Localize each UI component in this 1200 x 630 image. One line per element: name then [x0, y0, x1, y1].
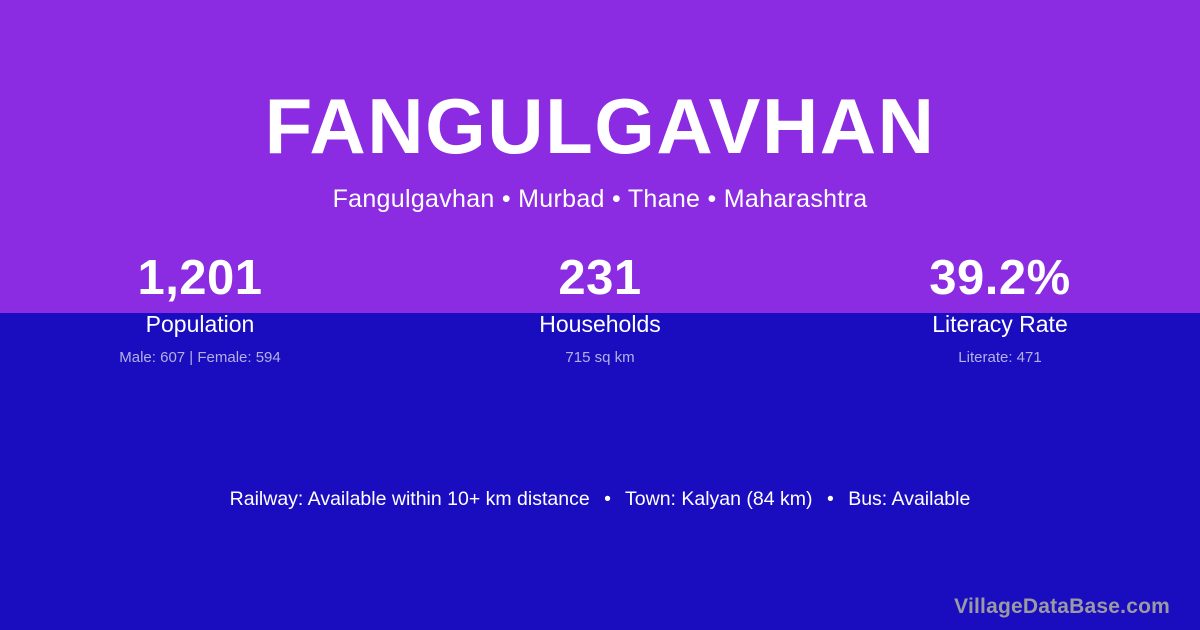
- village-summary-card: FANGULGAVHAN Fangulgavhan • Murbad • Tha…: [0, 0, 1200, 630]
- stat-population-label: Population: [0, 309, 400, 339]
- bullet-separator-icon: •: [595, 484, 620, 514]
- stat-households: 231 Households 715 sq km: [400, 249, 800, 369]
- stats-row: 1,201 Population Male: 607 | Female: 594…: [0, 249, 1200, 369]
- stat-literacy-rate-value: 39.2%: [800, 249, 1200, 307]
- page-title: FANGULGAVHAN: [0, 79, 1200, 173]
- infrastructure-railway: Railway: Available within 10+ km distanc…: [230, 488, 590, 510]
- stat-literacy-rate-detail: Literate: 471: [800, 347, 1200, 369]
- stat-population-detail: Male: 607 | Female: 594: [0, 347, 400, 369]
- stat-population-value: 1,201: [0, 249, 400, 307]
- breadcrumb: Fangulgavhan • Murbad • Thane • Maharash…: [0, 181, 1200, 217]
- stat-population: 1,201 Population Male: 607 | Female: 594: [0, 249, 400, 369]
- bullet-separator-icon: •: [818, 484, 843, 514]
- stat-literacy-rate: 39.2% Literacy Rate Literate: 471: [800, 249, 1200, 369]
- infrastructure-line: Railway: Available within 10+ km distanc…: [0, 484, 1200, 514]
- stat-households-value: 231: [400, 249, 800, 307]
- stat-literacy-rate-label: Literacy Rate: [800, 309, 1200, 339]
- site-brand-watermark: VillageDataBase.com: [954, 593, 1170, 621]
- stat-households-detail: 715 sq km: [400, 347, 800, 369]
- stat-households-label: Households: [400, 309, 800, 339]
- infrastructure-town: Town: Kalyan (84 km): [625, 488, 813, 510]
- infrastructure-bus: Bus: Available: [848, 488, 970, 510]
